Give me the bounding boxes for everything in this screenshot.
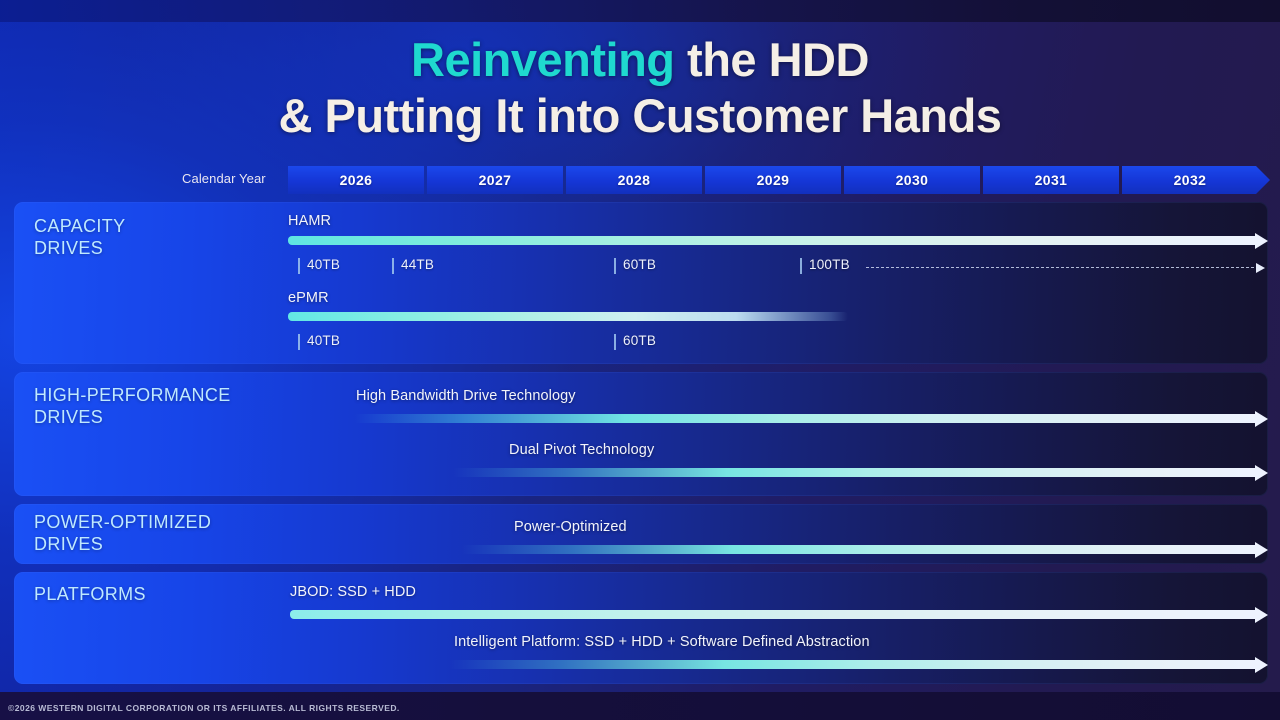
- bar-arrowhead-icon: [1255, 542, 1268, 558]
- track-label-intelligent-platform: Intelligent Platform: SSD + HDD + Softwa…: [454, 634, 870, 650]
- track-label-jbod-ssd-hdd: JBOD: SSD + HDD: [290, 584, 416, 600]
- panel-label-capacity-drives: CAPACITY DRIVES: [34, 216, 125, 260]
- bar-arrowhead-icon: [1255, 411, 1268, 427]
- track-bar-hamr: [288, 236, 1268, 245]
- bar-body: [454, 468, 1257, 477]
- year-cell-2032[interactable]: 2032: [1122, 166, 1270, 194]
- bar-body: [450, 660, 1257, 669]
- hamr-100tb-arrowhead-icon: [1256, 263, 1265, 273]
- bar-arrowhead-icon: [1255, 657, 1268, 673]
- timeline-header: Calendar Year 2026 2027 2028 2029 2030 2…: [0, 166, 1280, 194]
- title-accent-word: Reinventing: [411, 33, 674, 86]
- panel-platforms: PLATFORMS JBOD: SSD + HDD Intelligent Pl…: [14, 572, 1268, 684]
- bar-body: [354, 414, 1257, 423]
- panel-high-performance-drives: HIGH-PERFORMANCE DRIVES High Bandwidth D…: [14, 372, 1268, 496]
- track-bar-power-optimized: [462, 545, 1268, 554]
- track-bar-dual-pivot-technology: [454, 468, 1268, 477]
- page-title: Reinventing the HDD & Putting It into Cu…: [0, 36, 1280, 140]
- year-cell-2028[interactable]: 2028: [566, 166, 702, 194]
- bar-body: [290, 610, 1257, 619]
- hamr-100tb-extension-line: [866, 267, 1256, 268]
- track-label-high-bandwidth-drive-technology: High Bandwidth Drive Technology: [356, 388, 576, 404]
- top-band: [0, 0, 1280, 22]
- track-label-hamr: HAMR: [288, 213, 331, 229]
- title-line1-rest: the HDD: [675, 33, 869, 86]
- slide-canvas: Reinventing the HDD & Putting It into Cu…: [0, 0, 1280, 720]
- bar-arrowhead-icon: [1255, 465, 1268, 481]
- bar-arrowhead-icon: [1255, 233, 1268, 249]
- panel-power-optimized-drives: POWER-OPTIMIZED DRIVES Power-Optimized: [14, 504, 1268, 564]
- track-label-dual-pivot-technology: Dual Pivot Technology: [509, 442, 654, 458]
- capacity-marker-hamr-40tb: 40TB: [298, 257, 340, 272]
- panel-label-high-performance-drives: HIGH-PERFORMANCE DRIVES: [34, 385, 231, 429]
- bar-body: [288, 236, 1257, 245]
- bar-body: [462, 545, 1257, 554]
- year-cell-2029[interactable]: 2029: [705, 166, 841, 194]
- track-bar-jbod-ssd-hdd: [290, 610, 1268, 619]
- track-bar-high-bandwidth-drive-technology: [354, 414, 1268, 423]
- capacity-marker-hamr-100tb: 100TB: [800, 257, 850, 272]
- track-bar-epmr: [288, 312, 848, 321]
- panel-label-platforms: PLATFORMS: [34, 584, 146, 606]
- title-line2: & Putting It into Customer Hands: [0, 92, 1280, 140]
- panel-capacity-drives: CAPACITY DRIVES HAMR 40TB 44TB 60TB 100T…: [14, 202, 1268, 364]
- capacity-marker-epmr-40tb: 40TB: [298, 333, 340, 348]
- track-label-epmr: ePMR: [288, 290, 329, 306]
- track-label-power-optimized: Power-Optimized: [514, 519, 627, 535]
- year-cell-2031[interactable]: 2031: [983, 166, 1119, 194]
- capacity-marker-epmr-60tb: 60TB: [614, 333, 656, 348]
- year-cell-2026[interactable]: 2026: [288, 166, 424, 194]
- track-bar-intelligent-platform: [450, 660, 1268, 669]
- panel-label-power-optimized-drives: POWER-OPTIMIZED DRIVES: [34, 512, 211, 556]
- calendar-year-label: Calendar Year: [182, 171, 266, 186]
- bar-arrowhead-icon: [1255, 607, 1268, 623]
- year-cell-2027[interactable]: 2027: [427, 166, 563, 194]
- copyright-footer: ©2026 WESTERN DIGITAL CORPORATION OR ITS…: [8, 703, 400, 713]
- capacity-marker-hamr-60tb: 60TB: [614, 257, 656, 272]
- bar-body: [288, 312, 848, 321]
- capacity-marker-hamr-44tb: 44TB: [392, 257, 434, 272]
- year-cell-2030[interactable]: 2030: [844, 166, 980, 194]
